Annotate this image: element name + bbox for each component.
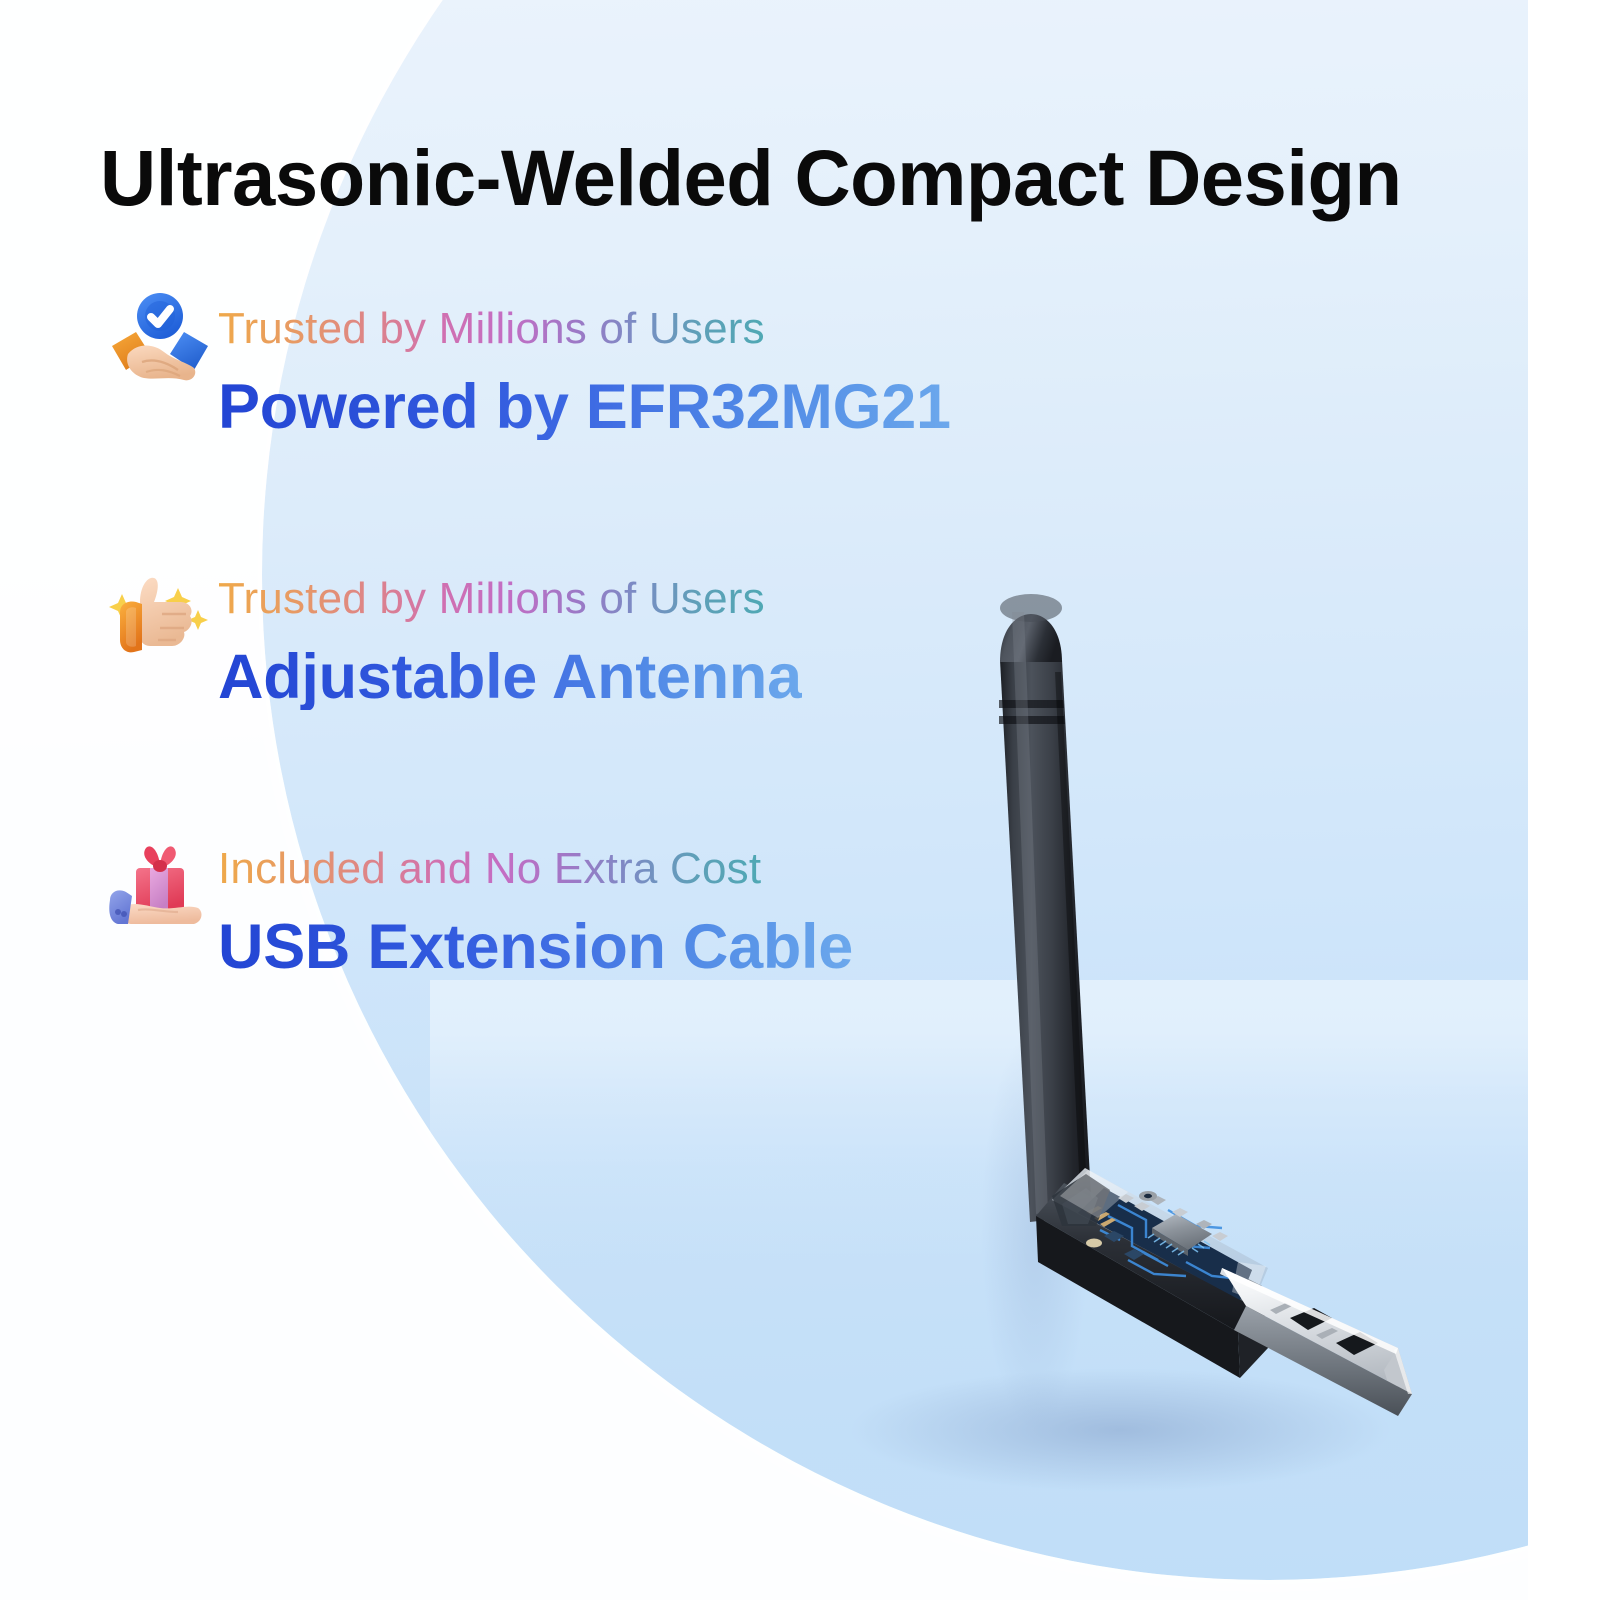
feature-headline: USB Extension Cable xyxy=(218,914,853,980)
product-feature-graphic: Ultrasonic-Welded Compact Design xyxy=(0,0,1600,1600)
page-title: Ultrasonic-Welded Compact Design xyxy=(100,138,1381,217)
background-panel xyxy=(0,0,1532,1600)
gift-in-hand-icon xyxy=(106,824,214,932)
handshake-check-icon xyxy=(106,284,214,392)
feature-subtitle: Trusted by Millions of Users xyxy=(218,576,765,622)
right-white-margin xyxy=(1528,0,1600,1600)
thumbs-up-sparkle-icon xyxy=(106,554,214,662)
feature-subtitle: Included and No Extra Cost xyxy=(218,846,761,892)
feature-headline: Powered by EFR32MG21 xyxy=(218,374,951,440)
feature-headline: Adjustable Antenna xyxy=(218,644,802,710)
feature-subtitle: Trusted by Millions of Users xyxy=(218,306,765,352)
